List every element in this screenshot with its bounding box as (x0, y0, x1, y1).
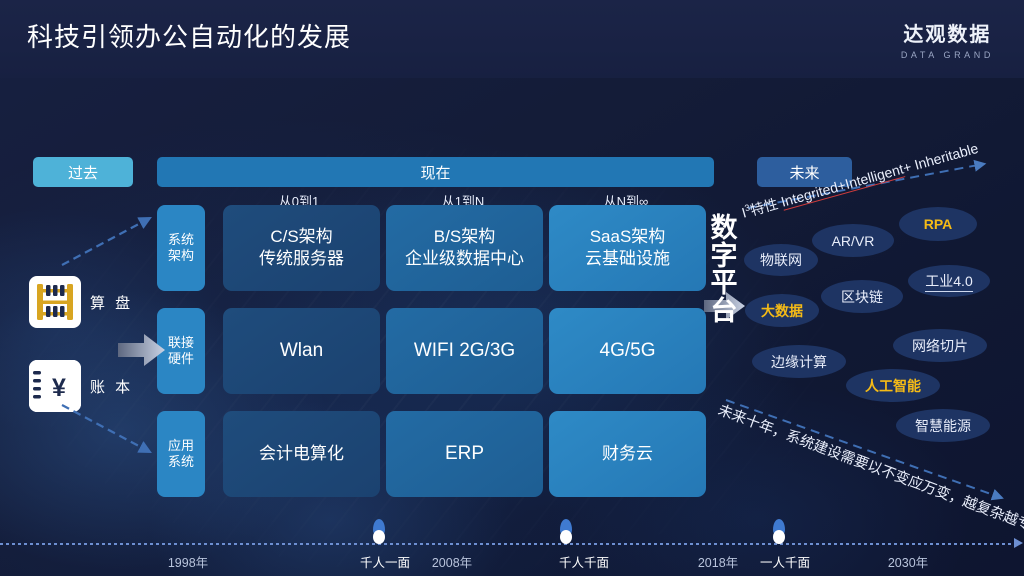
row-label-2: 应用系统 (157, 411, 205, 497)
future-tag-label: 网络切片 (912, 336, 968, 356)
phase-bar-past[interactable]: 过去 (33, 157, 133, 187)
row-label-line2: 硬件 (168, 351, 194, 367)
legacy-item-abacus: 算 盘 (29, 276, 133, 328)
future-tag-label: 物联网 (760, 250, 802, 270)
phase-bar-now[interactable]: 现在 (157, 157, 714, 187)
page-title: 科技引领办公自动化的发展 (27, 17, 351, 54)
matrix-cell-r2-c2[interactable]: 财务云 (549, 411, 706, 497)
abacus-icon (29, 276, 81, 328)
future-tag-label: 人工智能 (865, 376, 921, 396)
matrix-cell-line1: 会计电算化 (259, 443, 344, 465)
future-tag-label: AR/VR (832, 233, 875, 249)
row-label-line2: 架构 (168, 248, 194, 264)
matrix-cell-line1: 财务云 (602, 443, 653, 465)
matrix-cell-r2-c1[interactable]: ERP (386, 411, 543, 497)
matrix-cell-r0-c0[interactable]: C/S架构传统服务器 (223, 205, 380, 291)
digital-platform-label: 数字平台 (707, 215, 741, 325)
future-tag-4[interactable]: 区块链 (821, 280, 903, 313)
timeline-milestone-0: 千人一面 (325, 552, 445, 571)
matrix-cell-line2: 云基础设施 (585, 248, 670, 270)
future-tag-9[interactable]: 智慧能源 (896, 409, 990, 442)
brand-logo-en: DATA GRAND (901, 50, 994, 60)
svg-text:¥: ¥ (52, 374, 66, 402)
timeline-node-2 (772, 519, 786, 545)
matrix-cell-r1-c2[interactable]: 4G/5G (549, 308, 706, 394)
matrix-cell-line1: 4G/5G (600, 339, 656, 364)
timeline-year-3: 2030年 (848, 552, 968, 571)
matrix-cell-r2-c0[interactable]: 会计电算化 (223, 411, 380, 497)
timeline-milestone-2: 一人千面 (725, 552, 845, 571)
future-tag-label: 智慧能源 (915, 416, 971, 436)
matrix-cell-line1: Wlan (280, 339, 323, 364)
future-tag-8[interactable]: 人工智能 (846, 369, 940, 402)
row-label-line2: 系统 (168, 454, 194, 470)
row-label-0: 系统架构 (157, 205, 205, 291)
row-label-line1: 联接 (168, 335, 194, 351)
future-tag-0[interactable]: RPA (899, 207, 977, 241)
timeline-dot-icon (373, 530, 385, 544)
matrix-cell-line1: WIFI 2G/3G (414, 339, 515, 364)
row-label-line1: 系统 (168, 232, 194, 248)
matrix-cell-line2: 传统服务器 (259, 248, 344, 270)
timeline-arrow-icon (1014, 538, 1023, 548)
timeline-milestone-1: 千人千面 (524, 552, 644, 571)
matrix-cell-r1-c1[interactable]: WIFI 2G/3G (386, 308, 543, 394)
future-tag-label: 大数据 (761, 301, 803, 321)
timeline-node-0 (372, 519, 386, 545)
future-tag-label: RPA (924, 216, 953, 232)
future-tag-7[interactable]: 边缘计算 (752, 345, 846, 378)
future-tag-label: 区块链 (841, 287, 883, 307)
transition-arrow-left (118, 332, 166, 373)
digital-platform-char-3: 台 (707, 298, 741, 326)
digital-platform-char-2: 平 (707, 270, 741, 298)
matrix-cell-line1: B/S架构 (405, 226, 524, 248)
matrix-cell-r0-c1[interactable]: B/S架构企业级数据中心 (386, 205, 543, 291)
row-label-line1: 应用 (168, 438, 194, 454)
timeline-dot-icon (560, 530, 572, 544)
matrix-cell-line1: SaaS架构 (585, 226, 670, 248)
matrix-cell-line2: 企业级数据中心 (405, 248, 524, 270)
timeline-axis (0, 543, 1016, 545)
ledger-icon: ¥ (29, 360, 81, 412)
future-tag-label: 工业4.0 (925, 271, 972, 292)
timeline-dot-icon (773, 530, 785, 544)
future-tag-3[interactable]: 工业4.0 (908, 265, 990, 297)
legacy-label-ledger: 账 本 (90, 376, 133, 397)
matrix-cell-r0-c2[interactable]: SaaS架构云基础设施 (549, 205, 706, 291)
brand-logo-cn: 达观数据 (901, 18, 994, 47)
future-tag-6[interactable]: 网络切片 (893, 329, 987, 362)
future-tag-1[interactable]: AR/VR (812, 224, 894, 257)
matrix-cell-line1: C/S架构 (259, 226, 344, 248)
timeline-node-1 (559, 519, 573, 545)
matrix-cell-line1: ERP (445, 442, 484, 467)
legacy-label-abacus: 算 盘 (90, 292, 133, 313)
digital-platform-char-1: 字 (707, 243, 741, 271)
future-tag-label: 边缘计算 (771, 352, 827, 372)
timeline-year-0: 1998年 (128, 552, 248, 571)
matrix-cell-r1-c0[interactable]: Wlan (223, 308, 380, 394)
future-tag-2[interactable]: 物联网 (744, 244, 818, 276)
future-tag-5[interactable]: 大数据 (745, 294, 819, 327)
brand-logo: 达观数据 DATA GRAND (901, 18, 994, 60)
digital-platform-char-0: 数 (707, 215, 741, 243)
